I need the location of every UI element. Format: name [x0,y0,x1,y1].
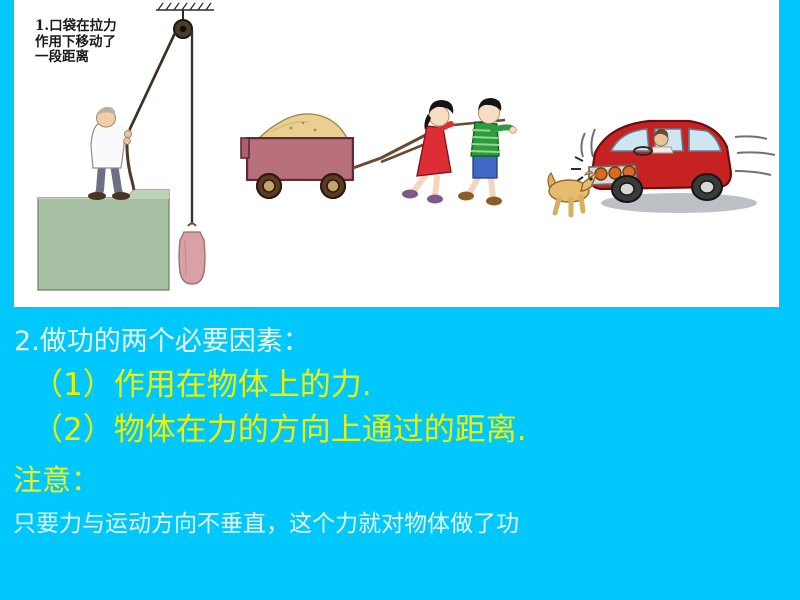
note-label: 注意： [13,457,100,499]
note-text: 只要力与运动方向不垂直，这个力就对物体做了功 [13,504,519,538]
car-scene-graphic [539,95,779,235]
body-text-block: 2.做功的两个必要因素： （1）作用在物体上的力. （2）物体在力的方向上通过的… [0,307,800,600]
point-2-distance: （2）物体在力的方向上通过的距离. [32,404,527,449]
caption-pulley: 1.口袋在拉力 作用下移动了 一段距离 [35,19,117,66]
illustration-panel: 1.口袋在拉力 作用下移动了 一段距离 [14,0,779,307]
point-1-force: （1）作用在物体上的力. [32,359,372,404]
car-scene: 3.汽车在阻力作用下 移动一段距离 [539,95,779,235]
cart-scene-graphic [229,80,529,230]
slide-canvas: 1.口袋在拉力 作用下移动了 一段距离 [0,0,800,600]
heading-two-necessary-factors: 2.做功的两个必要因素： [14,319,310,358]
cart-scene: 2.小车在拉力作用 下移动一段距离 [229,80,529,230]
pulley-scene: 1.口袋在拉力 作用下移动了 一段距离 [14,0,229,307]
